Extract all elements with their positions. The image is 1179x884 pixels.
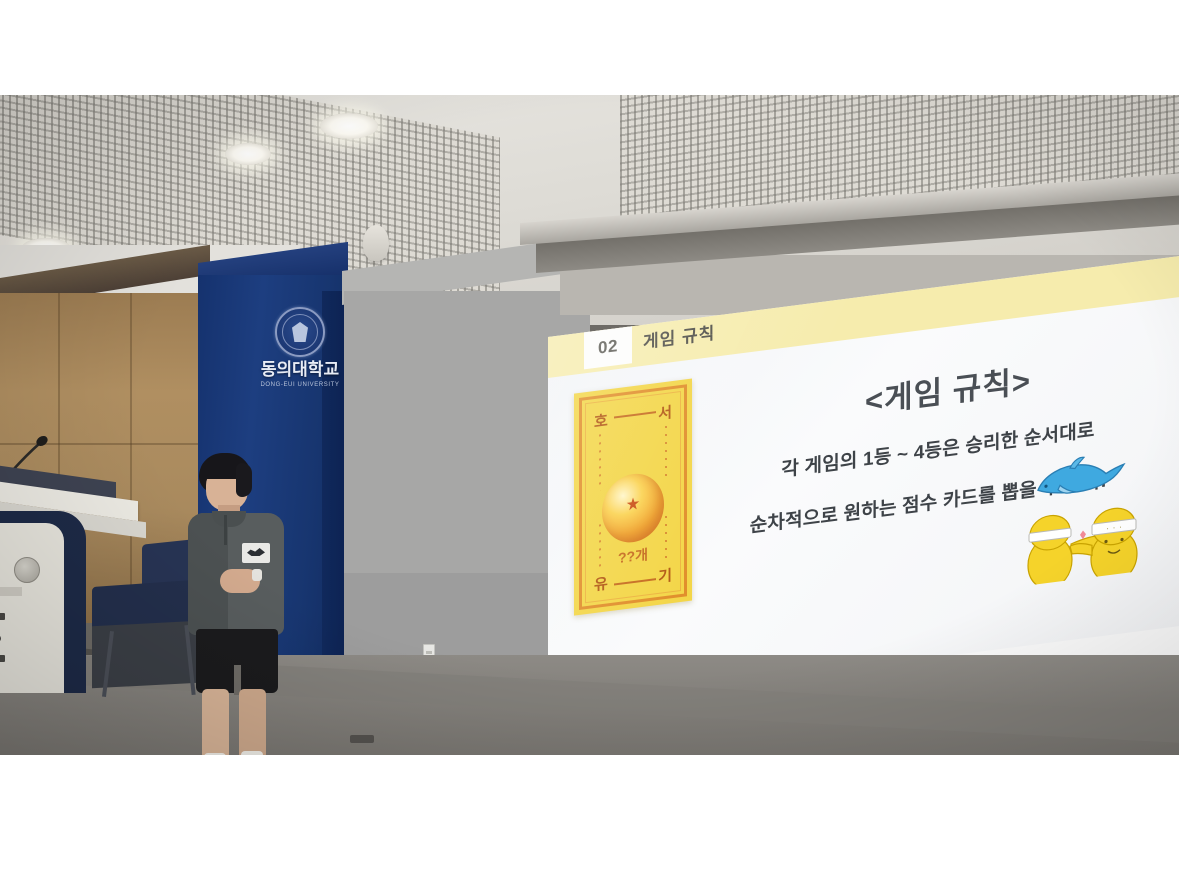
presenter-jacket-logo-icon (242, 543, 270, 563)
presenter (176, 453, 296, 755)
card-char-top-left: 호 (594, 409, 608, 432)
lectern-front-panel (0, 523, 64, 693)
ceiling-downlight (225, 143, 271, 165)
letterbox-top (0, 0, 1179, 95)
university-seal-icon (275, 307, 325, 357)
slide-section-number: 02 (598, 336, 618, 359)
ceiling-speaker (363, 225, 389, 261)
presenter-watch (252, 569, 262, 581)
card-char-bottom-left: 유 (594, 572, 608, 595)
lectern-dial[interactable] (14, 557, 40, 583)
character-illustration: ㆍㆍㆍ (1022, 491, 1142, 586)
ceiling-downlight (320, 113, 378, 139)
slide-section-number-box: 02 (584, 325, 632, 369)
lectern-indicator (0, 635, 1, 642)
presentation-slide: 02 게임 규칙 호 서 유 기 (548, 237, 1179, 707)
presenter-leg-left (202, 689, 229, 755)
floor-object (350, 735, 374, 743)
university-name-english: DONG-EUI UNIVERSITY (258, 382, 342, 388)
screenshot-root: 동의대학교 DONG-EUI UNIVERSITY 02 게임 규칙 (0, 0, 1179, 884)
lectern-button[interactable] (0, 613, 5, 620)
card-char-top-right: 서 (658, 401, 672, 424)
presenter-leg-right (239, 689, 266, 755)
presenter-hair-side (236, 463, 252, 497)
lectern (0, 495, 106, 695)
lectern-label (0, 587, 22, 596)
card-char-bottom-right: 기 (658, 564, 672, 587)
university-name-korean: 동의대학교 (258, 361, 342, 379)
card-dots-right (665, 426, 667, 482)
score-card-graphic: 호 서 유 기 ??개 (574, 379, 692, 616)
letterbox-bottom (0, 755, 1179, 884)
lectern-button[interactable] (0, 655, 5, 662)
photograph: 동의대학교 DONG-EUI UNIVERSITY 02 게임 규칙 (0, 95, 1179, 755)
card-dots-left (599, 434, 601, 490)
presenter-zipper (224, 515, 227, 545)
university-logo: 동의대학교 DONG-EUI UNIVERSITY (258, 307, 342, 388)
